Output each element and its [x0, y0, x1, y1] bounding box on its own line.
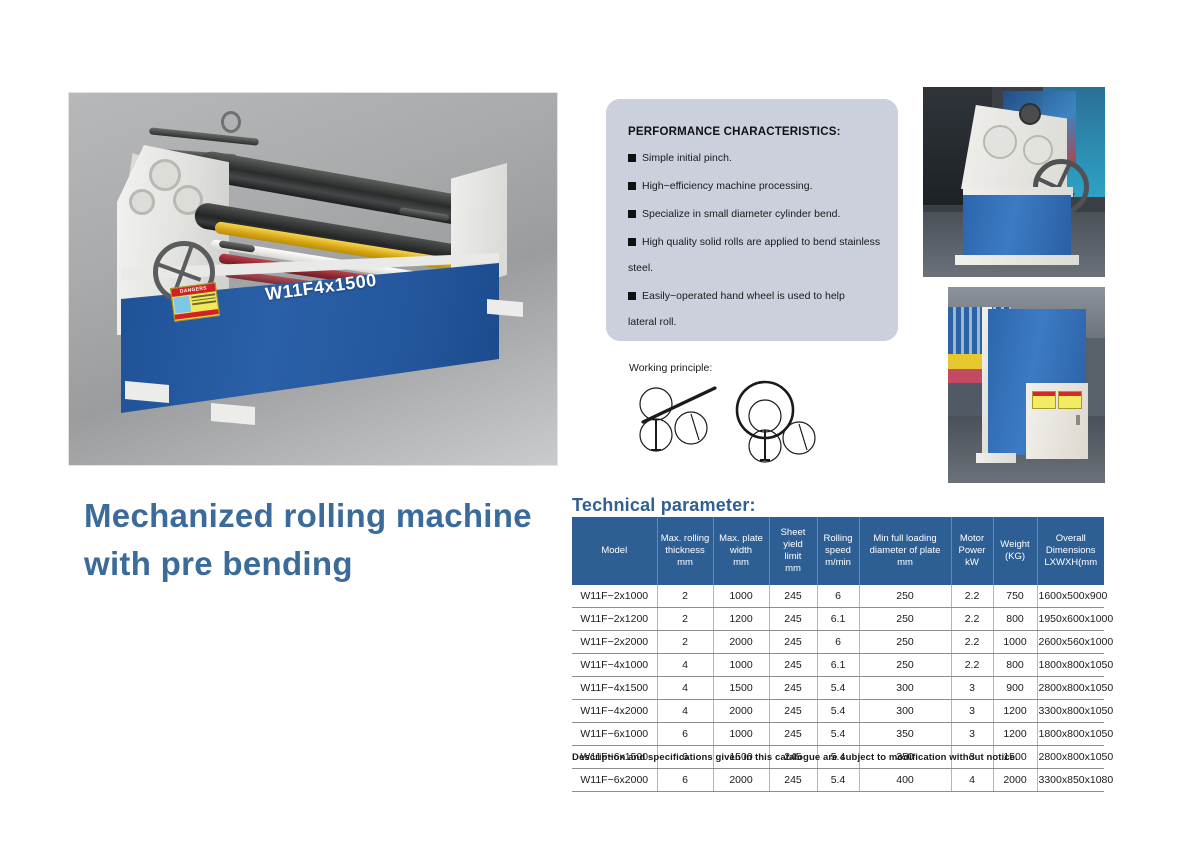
spec-table-cell: 2.2	[951, 585, 993, 608]
spec-table-cell: 2800x800x1050	[1037, 746, 1104, 769]
spec-table-cell: 6	[817, 631, 859, 654]
spec-table-cell: 1000	[713, 654, 769, 677]
gear-hub-dark	[1019, 103, 1041, 125]
machine-foot-plate	[976, 453, 1016, 463]
performance-item-text: High quality solid rolls are applied to …	[642, 236, 880, 248]
base-foot-mid	[211, 403, 255, 425]
spec-table-cell: 4	[657, 700, 713, 723]
spec-table-cell: 5.4	[817, 700, 859, 723]
spec-table-cell: 4	[657, 654, 713, 677]
spec-table-cell: 1000	[713, 723, 769, 746]
spec-table-cell: 245	[769, 631, 817, 654]
spec-table-cell: W11F−6x1000	[572, 723, 657, 746]
performance-item-text-cont: steel.	[628, 261, 884, 275]
spec-table: ModelMax. rollingthicknessmmMax. platewi…	[572, 517, 1104, 792]
spec-table-cell: 400	[859, 769, 951, 792]
performance-heading: PERFORMANCE CHARACTERISTICS:	[628, 126, 841, 138]
spec-table-col-header: Max. rollingthicknessmm	[657, 517, 713, 585]
spec-table-col-header-line: width	[715, 545, 768, 557]
spec-table-cell: 1800x800x1050	[1037, 723, 1104, 746]
spec-table-col-header-line: Max. plate	[715, 533, 768, 545]
spec-table-cell: W11F−4x1500	[572, 677, 657, 700]
page-title-line-2: with pre bending	[84, 540, 564, 588]
spec-table-cell: 6	[817, 585, 859, 608]
spec-table-cell: 250	[859, 585, 951, 608]
spec-table-cell: 750	[993, 585, 1037, 608]
gear-lower	[129, 189, 155, 215]
spec-table-cell: 1500	[713, 677, 769, 700]
spec-table-cell: 2	[657, 631, 713, 654]
spec-table-col-header-line: Rolling	[819, 533, 858, 545]
spec-table-cell: 245	[769, 585, 817, 608]
diagram-pre-bend	[640, 388, 715, 451]
spec-table-head: ModelMax. rollingthicknessmmMax. platewi…	[572, 517, 1104, 585]
spec-table-cell: W11F−6x2000	[572, 769, 657, 792]
spec-table-cell: 1800x800x1050	[1037, 654, 1104, 677]
table-row: W11F−4x2000420002455.4300312003300x800x1…	[572, 700, 1104, 723]
spec-table-cell: W11F−4x2000	[572, 700, 657, 723]
spec-table-col-header-line: thickness	[659, 545, 712, 557]
spec-table-col-header-line: Dimensions	[1039, 545, 1104, 557]
performance-item: High−efficiency machine processing.	[628, 179, 884, 193]
main-product-photo-scene: DANGERS W11F4x1500	[69, 93, 557, 465]
lifting-hook	[221, 111, 241, 133]
table-row: W11F−2x10002100024562502.27501600x500x90…	[572, 585, 1104, 608]
spec-table-cell: 3	[951, 677, 993, 700]
table-row: W11F−4x1000410002456.12502.28001800x800x…	[572, 654, 1104, 677]
spec-table-col-header: Weight(KG)	[993, 517, 1037, 585]
spec-table-cell: 250	[859, 631, 951, 654]
page-title: Mechanized rolling machine with pre bend…	[84, 492, 564, 588]
spec-table-cell: 245	[769, 769, 817, 792]
spec-table-cell: 6	[657, 723, 713, 746]
spec-table-col-header-line: Max. rolling	[659, 533, 712, 545]
spec-table-cell: 250	[859, 608, 951, 631]
spec-table-cell: 3300x850x1080	[1037, 769, 1104, 792]
danger-sticker-text-lines	[190, 291, 218, 312]
spec-table-col-header: MotorPowerkW	[951, 517, 993, 585]
machine-blue-base	[963, 195, 1071, 257]
bullet-square-icon	[628, 238, 636, 246]
spec-table-col-header-line: diameter of plate	[861, 545, 950, 557]
spec-table-cell: 5.4	[817, 769, 859, 792]
performance-characteristics-panel: PERFORMANCE CHARACTERISTICS: Simple init…	[606, 99, 898, 341]
performance-item: Easily−operated hand wheel is used to he…	[628, 289, 884, 329]
spec-table-col-header: Max. platewidthmm	[713, 517, 769, 585]
spec-table-cell: 1000	[993, 631, 1037, 654]
spec-table-cell: 1200	[993, 723, 1037, 746]
spec-table-col-header-line: LXWXH(mm	[1039, 557, 1104, 569]
spec-table-cell: 4	[657, 677, 713, 700]
gear-disc-large	[983, 125, 1017, 159]
spec-table-col-header-line: Power	[953, 545, 992, 557]
spec-table-cell: 6.1	[817, 608, 859, 631]
spec-table-cell: 2000	[713, 631, 769, 654]
spec-table-cell: 3	[951, 700, 993, 723]
spec-table-col-header-line: Overall	[1039, 533, 1104, 545]
spec-table-col-header-line: limit	[771, 551, 816, 563]
spec-table-cell: 250	[859, 654, 951, 677]
spec-table-cell: 2	[657, 608, 713, 631]
spec-table-cell: 6.1	[817, 654, 859, 677]
spec-table-col-header-line: Motor	[953, 533, 992, 545]
bullet-square-icon	[628, 182, 636, 190]
spec-table-cell: 5.4	[817, 723, 859, 746]
performance-item: Simple initial pinch.	[628, 151, 884, 165]
spec-table-col-header-line: mm	[771, 563, 816, 575]
spec-table-cell: 245	[769, 654, 817, 677]
technical-parameter-heading: Technical parameter:	[572, 495, 756, 516]
performance-list: Simple initial pinch. High−efficiency ma…	[628, 151, 884, 343]
performance-item-text-cont: lateral roll.	[628, 315, 884, 329]
performance-item-text: Easily−operated hand wheel is used to he…	[642, 290, 845, 302]
spec-table-cell: 350	[859, 723, 951, 746]
gear-upper	[149, 159, 181, 191]
spec-table-cell: 2.2	[951, 631, 993, 654]
spec-table-col-header-line: Sheet yield	[771, 527, 816, 551]
spec-table-cell: 2000	[993, 769, 1037, 792]
spec-table-col-header-line: Model	[573, 545, 656, 557]
spec-table-cell: 4	[951, 769, 993, 792]
spec-table-cell: W11F−2x1000	[572, 585, 657, 608]
machine-base-plate	[955, 255, 1079, 265]
spec-table-cell: 6	[657, 769, 713, 792]
spec-table-cell: 2800x800x1050	[1037, 677, 1104, 700]
spec-table-col-header-line: Weight	[995, 539, 1036, 551]
spec-table-cell: 2000	[713, 700, 769, 723]
spec-table-header-row: ModelMax. rollingthicknessmmMax. platewi…	[572, 517, 1104, 585]
working-principle-section: Working principle:	[627, 362, 837, 472]
spec-table-cell: 2.2	[951, 608, 993, 631]
spec-table-cell: 300	[859, 677, 951, 700]
table-row: W11F−6x1000610002455.4350312001800x800x1…	[572, 723, 1104, 746]
cabinet-warning-sticker-2	[1058, 391, 1082, 409]
spec-table-cell: 1200	[993, 700, 1037, 723]
spec-table-cell: 900	[993, 677, 1037, 700]
spec-table-cell: 3	[951, 723, 993, 746]
working-principle-label: Working principle:	[629, 362, 712, 374]
table-row: W11F−4x1500415002455.430039002800x800x10…	[572, 677, 1104, 700]
spec-table-col-header: Sheet yieldlimitmm	[769, 517, 817, 585]
spec-table-col-header: Rollingspeedm/min	[817, 517, 859, 585]
spec-table-col-header: Min full loadingdiameter of platemm	[859, 517, 951, 585]
performance-item-text: High−efficiency machine processing.	[642, 180, 813, 192]
table-row: W11F−2x1200212002456.12502.28001950x600x…	[572, 608, 1104, 631]
performance-item: Specialize in small diameter cylinder be…	[628, 207, 884, 221]
spec-table-cell: 3300x800x1050	[1037, 700, 1104, 723]
spec-table-cell: 245	[769, 700, 817, 723]
spec-table-col-header-line: speed	[819, 545, 858, 557]
spec-table-col-header-line: mm	[861, 557, 950, 569]
diagram-rolled-cylinder	[737, 382, 815, 462]
bullet-square-icon	[628, 292, 636, 300]
spec-table-cell: 2000	[713, 769, 769, 792]
spec-table-cell: W11F−2x2000	[572, 631, 657, 654]
top-shaft	[149, 127, 259, 145]
spec-table-container: ModelMax. rollingthicknessmmMax. platewi…	[572, 517, 1104, 792]
spec-table-cell: 2600x560x1000	[1037, 631, 1104, 654]
performance-item-text: Specialize in small diameter cylinder be…	[642, 208, 840, 220]
spec-table-cell: 1950x600x1000	[1037, 608, 1104, 631]
spec-table-cell: W11F−2x1200	[572, 608, 657, 631]
spec-table-cell: 2.2	[951, 654, 993, 677]
hazard-pictogram-icon	[173, 296, 191, 314]
bullet-square-icon	[628, 210, 636, 218]
spec-table-cell: 2	[657, 585, 713, 608]
spec-table-cell: 245	[769, 677, 817, 700]
performance-item: High quality solid rolls are applied to …	[628, 235, 884, 275]
bullet-square-icon	[628, 154, 636, 162]
spec-table-col-header: Model	[572, 517, 657, 585]
cabinet-handle	[1076, 415, 1080, 425]
main-product-photo: DANGERS W11F4x1500	[68, 92, 558, 466]
side-photo-control-cabinet	[948, 287, 1105, 483]
spec-table-cell: 800	[993, 654, 1037, 677]
working-principle-diagram	[627, 380, 837, 472]
danger-warning-sticker: DANGERS	[170, 282, 220, 322]
table-row: W11F−6x2000620002455.4400420003300x850x1…	[572, 769, 1104, 792]
spec-table-col-header-line: mm	[715, 557, 768, 569]
spec-table-cell: 300	[859, 700, 951, 723]
spec-table-cell: 245	[769, 723, 817, 746]
cabinet-warning-sticker-1	[1032, 391, 1056, 409]
spec-table-cell: 5.4	[817, 677, 859, 700]
spec-table-cell: 1000	[713, 585, 769, 608]
spec-table-col-header: OverallDimensionsLXWXH(mm	[1037, 517, 1104, 585]
page-title-line-1: Mechanized rolling machine	[84, 492, 564, 540]
spec-table-col-header-line: m/min	[819, 557, 858, 569]
spec-table-col-header-line: mm	[659, 557, 712, 569]
performance-item-text: Simple initial pinch.	[642, 152, 732, 164]
spec-table-cell: 245	[769, 608, 817, 631]
table-row: W11F−2x20002200024562502.210002600x560x1…	[572, 631, 1104, 654]
side-photo-machine-head	[923, 87, 1105, 277]
spec-table-cell: 1600x500x900	[1037, 585, 1104, 608]
spec-table-col-header-line: kW	[953, 557, 992, 569]
spec-table-cell: 800	[993, 608, 1037, 631]
spec-table-col-header-line: Min full loading	[861, 533, 950, 545]
table-footnote: Description and specifications given in …	[572, 752, 1018, 763]
spec-table-cell: 1200	[713, 608, 769, 631]
spec-table-cell: W11F−4x1000	[572, 654, 657, 677]
spec-table-col-header-line: (KG)	[995, 551, 1036, 563]
